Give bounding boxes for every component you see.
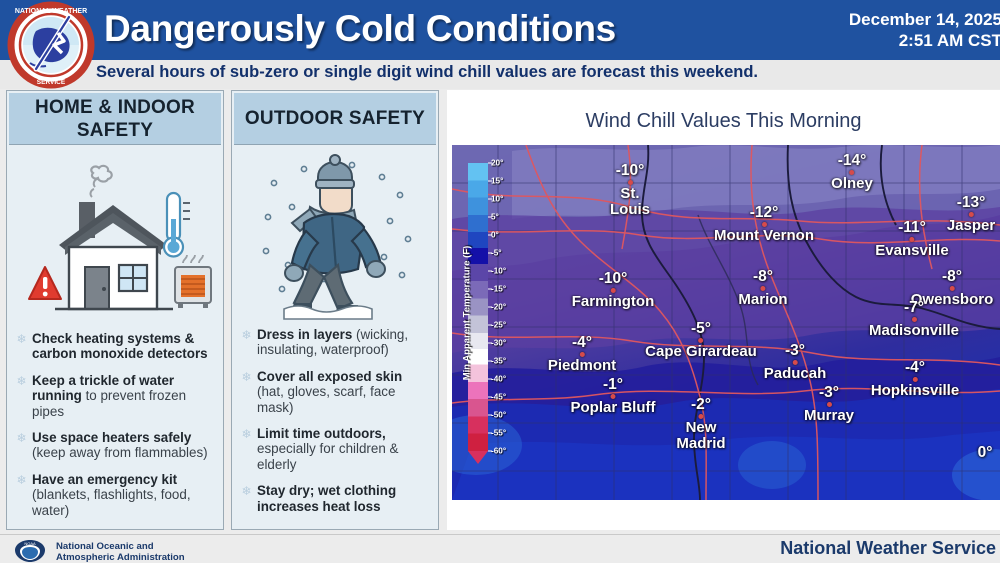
colorbar-arrow-icon [468,451,488,464]
city-temperature: -1° [571,377,656,393]
city-temperature: -8° [738,269,787,285]
snowflake-icon: ❄ [15,332,28,347]
map-city-label: -4°Piedmont [548,335,616,374]
colorbar-tick-label: 20° [491,159,503,168]
snowflake-icon: ❄ [15,374,28,389]
city-name: Jasper [947,218,995,234]
list-item: ❄ Cover all exposed skin(hat, gloves, sc… [240,369,432,415]
city-temperature: -3° [804,385,854,401]
tip-text: Dress in layers (wicking, insulating, wa… [257,327,432,358]
panel-home-indoor-safety: HOME & INDOOR SAFETY [6,90,224,530]
outdoor-safety-illustration [232,147,438,322]
map-city-label: -2°NewMadrid [676,397,725,451]
map-city-label: 0° [978,445,993,461]
map-title: Wind Chill Values This Morning [447,110,1000,133]
city-name: Poplar Bluff [571,400,656,416]
map-city-label: -3°Paducah [764,343,827,382]
svg-text:NATIONAL WEATHER: NATIONAL WEATHER [15,8,87,15]
list-item: ❄ Have an emergency kit(blankets, flashl… [15,472,217,518]
colorbar-tick-label: -40° [491,375,506,384]
snowflake-icon: ❄ [15,431,28,446]
city-name: Piedmont [548,358,616,374]
tip-text: Stay dry; wet clothing increases heat lo… [257,483,432,514]
colorbar-tick-label: 0° [491,231,499,240]
map-city-label: -11°Evansville [875,220,948,259]
list-item: ❄ Dress in layers (wicking, insulating, … [240,327,432,358]
tip-text: Use space heaters safely(keep away from … [32,430,208,461]
colorbar-tick-label: 10° [491,195,503,204]
weather-graphic-page: Dangerously Cold Conditions December 14,… [0,0,1000,563]
colorbar-tick-label: -5° [491,249,502,258]
panel-outdoor-heading: OUTDOOR SAFETY [234,93,436,145]
snowflake-icon: ❄ [240,484,253,499]
city-name: Marion [738,292,787,308]
tip-text: Keep a trickle of water running to preve… [32,373,217,419]
city-name: Mount Vernon [714,228,814,244]
snowflake-icon: ❄ [240,427,253,442]
svg-text:SERVICE: SERVICE [37,79,66,86]
city-temperature: -8° [911,269,994,285]
tip-text: Have an emergency kit(blankets, flashlig… [32,472,217,518]
header-banner: Dangerously Cold Conditions December 14,… [0,0,1000,60]
page-title: Dangerously Cold Conditions [104,8,616,50]
city-temperature: -10° [572,271,655,287]
colorbar-tick-label: -45° [491,393,506,402]
subheading-text: Several hours of sub-zero or single digi… [96,63,758,82]
city-name: Cape Girardeau [645,344,757,360]
snowflake-icon: ❄ [240,370,253,385]
city-temperature: -13° [947,195,995,211]
city-name: St.Louis [610,186,650,217]
colorbar-tick-label: 5° [491,213,499,222]
map-city-label: -14°Olney [831,153,873,192]
nws-office-name: National Weather Service Paducah KY [780,538,996,563]
wind-chill-map-image[interactable]: 20°15°10°5°0°-5°-10°-15°-20°-25°-30°-35°… [452,145,1000,500]
snowflake-icon: ❄ [240,328,253,343]
city-name: Paducah [764,366,827,382]
city-name: Murray [804,408,854,424]
city-name: Hopkinsville [871,383,959,399]
city-temperature: -7° [869,300,959,316]
noaa-logo-icon: NOAA [10,539,50,563]
list-item: ❄ Stay dry; wet clothing increases heat … [240,483,432,514]
tip-text: Cover all exposed skin(hat, gloves, scar… [257,369,432,415]
noaa-agency-name: National Oceanic and Atmospheric Adminis… [56,541,185,563]
map-city-label: -4°Hopkinsville [871,360,959,399]
home-safety-tip-list: ❄ Check heating systems & carbon monoxid… [15,331,217,529]
city-temperature: -10° [610,163,650,179]
svg-text:NOAA: NOAA [24,541,36,546]
city-temperature: -12° [714,205,814,221]
city-temperature: -5° [645,321,757,337]
panel-outdoor-safety: OUTDOOR SAFETY [231,90,439,530]
map-city-label: -7°Madisonville [869,300,959,339]
timestamp-block: December 14, 2025 2:51 AM CST [849,9,1000,51]
colorbar-tick-label: -20° [491,303,506,312]
colorbar-tick-labels: 20°15°10°5°0°-5°-10°-15°-20°-25°-30°-35°… [488,163,528,451]
footer-bar: NOAA National Oceanic and Atmospheric Ad… [0,534,1000,563]
map-city-label: -10°Farmington [572,271,655,310]
nws-line-2: Paducah KY [780,558,996,563]
wind-chill-map-container: Wind Chill Values This Morning [447,90,1000,530]
city-temperature: 0° [978,445,993,461]
map-city-label: -12°Mount Vernon [714,205,814,244]
issue-date: December 14, 2025 [849,9,1000,30]
home-safety-illustration [7,147,223,327]
map-colorbar: 20°15°10°5°0°-5°-10°-15°-20°-25°-30°-35°… [468,163,488,463]
colorbar-tick-label: -50° [491,411,506,420]
city-temperature: -11° [875,220,948,236]
nws-line-1: National Weather Service [780,538,996,558]
map-city-label: -1°Poplar Bluff [571,377,656,416]
map-city-label: -10°St.Louis [610,163,650,217]
colorbar-tick-label: 15° [491,177,503,186]
city-name: Evansville [875,243,948,259]
colorbar-tick-label: -55° [491,429,506,438]
city-name: Olney [831,176,873,192]
list-item: ❄ Check heating systems & carbon monoxid… [15,331,217,362]
map-city-label: -3°Murray [804,385,854,424]
issue-time: 2:51 AM CST [849,30,1000,51]
colorbar-tick-label: -60° [491,447,506,456]
tip-text: Limit time outdoors,especially for child… [257,426,432,472]
city-temperature: -2° [676,397,725,413]
map-city-label: -5°Cape Girardeau [645,321,757,360]
city-temperature: -14° [831,153,873,169]
colorbar-tick-label: -25° [491,321,506,330]
city-name: NewMadrid [676,420,725,451]
outdoor-safety-tip-list: ❄ Dress in layers (wicking, insulating, … [240,327,432,525]
city-temperature: -3° [764,343,827,359]
map-city-label: -13°Jasper [947,195,995,234]
city-temperature: -4° [548,335,616,351]
colorbar-tick-label: -35° [491,357,506,366]
noaa-line-1: National Oceanic and [56,541,185,552]
noaa-line-2: Atmospheric Administration [56,552,185,563]
list-item: ❄ Use space heaters safely(keep away fro… [15,430,217,461]
panel-home-heading: HOME & INDOOR SAFETY [9,93,221,145]
map-city-label: -8°Marion [738,269,787,308]
city-name: Madisonville [869,323,959,339]
snowflake-icon: ❄ [15,473,28,488]
colorbar-tick-label: -30° [491,339,506,348]
list-item: ❄ Keep a trickle of water running to pre… [15,373,217,419]
city-name: Farmington [572,294,655,310]
city-temperature: -4° [871,360,959,376]
list-item: ❄ Limit time outdoors,especially for chi… [240,426,432,472]
colorbar-tick-label: -15° [491,285,506,294]
national-weather-service-seal-icon: NATIONAL WEATHER SERVICE [6,1,96,89]
tip-text: Check heating systems & carbon monoxide … [32,331,217,362]
colorbar-axis-label: Min Apparent Temperature (F) [462,246,473,381]
colorbar-tick-label: -10° [491,267,506,276]
